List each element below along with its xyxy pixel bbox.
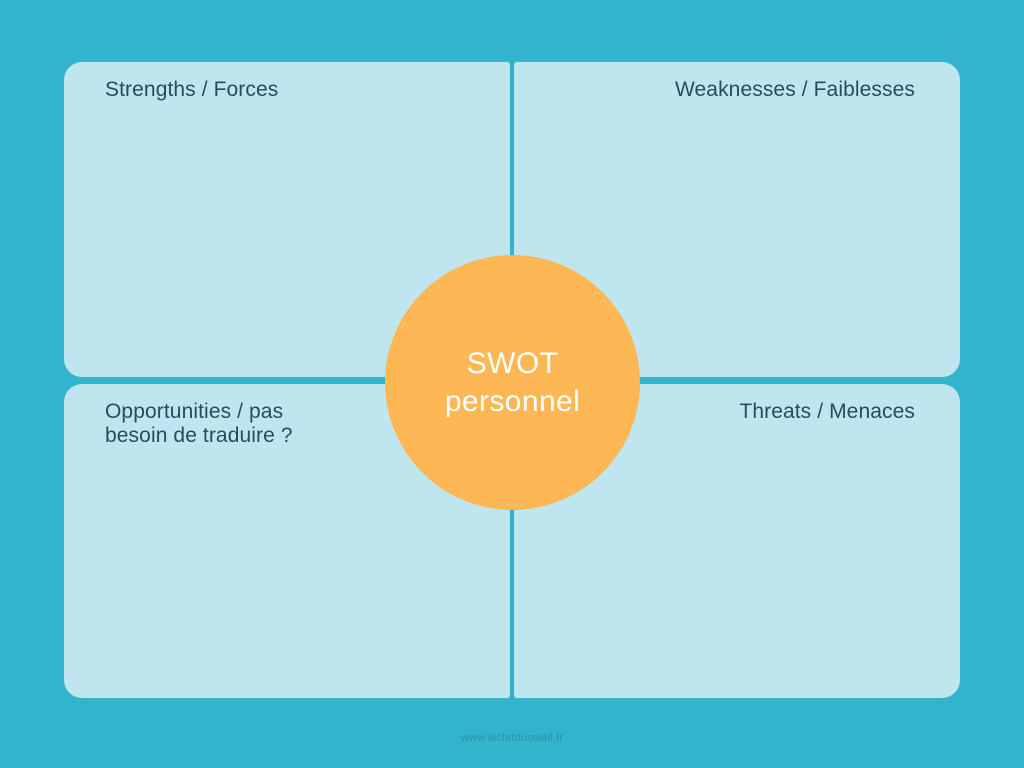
quadrant-opportunities-label: Opportunities / pas besoin de traduire ? — [105, 400, 293, 447]
swot-center-circle[interactable]: SWOT personnel — [385, 255, 640, 510]
center-title-line1: SWOT — [467, 345, 559, 383]
quadrant-threats-label: Threats / Menaces — [739, 400, 915, 424]
swot-diagram-canvas: Strengths / Forces Weaknesses / Faibless… — [0, 0, 1024, 768]
quadrant-strengths-label: Strengths / Forces — [105, 78, 278, 102]
quadrant-weaknesses-label: Weaknesses / Faiblesses — [675, 78, 915, 102]
footer-website: www.leclatdusoleil.fr — [0, 732, 1024, 744]
center-title-line2: personnel — [445, 383, 580, 421]
